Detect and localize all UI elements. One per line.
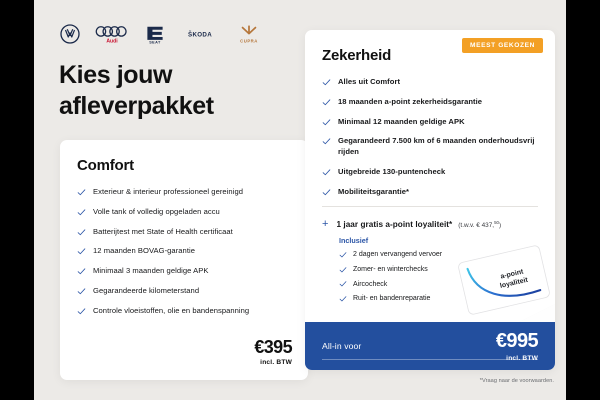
list-item: Gegarandeerd 7.500 km of 6 maanden onder… xyxy=(322,136,539,158)
section-divider xyxy=(322,206,538,207)
list-item: Mobiliteitsgarantie* xyxy=(322,187,539,198)
comfort-price-value: €395 xyxy=(254,338,292,356)
check-icon xyxy=(322,98,331,107)
loyalty-value: (t.w.v. € 437,50) xyxy=(458,220,501,229)
zekerheid-price-bar: All-in voor €995 incl. BTW xyxy=(305,322,555,370)
volkswagen-logo xyxy=(60,24,80,44)
feature-text: Minimaal 3 maanden geldige APK xyxy=(93,266,208,277)
inclusief-text: 2 dagen vervangend vervoer xyxy=(353,250,442,259)
allin-label: All-in voor xyxy=(322,341,361,351)
check-icon xyxy=(77,307,86,316)
page-title: Kies jouw afleverpakket xyxy=(59,60,319,121)
feature-text: Controle vloeistoffen, olie en bandenspa… xyxy=(93,306,249,317)
comfort-vat-label: incl. BTW xyxy=(254,359,292,366)
status-badge: MEEST GEKOZEN xyxy=(462,38,543,53)
feature-text: Volle tank of volledig opgeladen accu xyxy=(93,207,220,218)
list-item: Gegarandeerde kilometerstand xyxy=(77,286,292,297)
feature-text: Exterieur & interieur professioneel gere… xyxy=(93,187,243,198)
list-item: Uitgebreide 130-puntencheck xyxy=(322,167,539,178)
list-item: 18 maanden a-point zekerheidsgarantie xyxy=(322,97,539,108)
comfort-feature-list: Exterieur & interieur professioneel gere… xyxy=(60,187,308,316)
zekerheid-price-value: €995 xyxy=(496,330,538,352)
loyalty-highlight-row: + 1 jaar gratis a-point loyaliteit* (t.w… xyxy=(322,219,539,230)
check-icon xyxy=(322,137,331,146)
svg-text:ŠKODA: ŠKODA xyxy=(188,30,212,38)
inclusief-block: Inclusief 2 dagen vervangend vervoer Zom… xyxy=(339,236,539,303)
check-icon xyxy=(77,208,86,217)
feature-text: Mobiliteitsgarantie* xyxy=(338,187,409,198)
inclusief-title: Inclusief xyxy=(339,236,539,245)
price-underline xyxy=(322,359,538,360)
check-icon xyxy=(322,118,331,127)
comfort-card-title: Comfort xyxy=(77,157,308,174)
headline-line-1: Kies jouw xyxy=(59,60,319,91)
feature-text: Gegarandeerde kilometerstand xyxy=(93,286,199,297)
comfort-price-block: €395 incl. BTW xyxy=(254,338,292,366)
list-item: Minimaal 3 maanden geldige APK xyxy=(77,266,292,277)
seat-logo: SEAT xyxy=(144,24,166,44)
check-icon xyxy=(77,287,86,296)
audi-logo: Audi xyxy=(95,24,129,44)
footnote-text: *Vraag naar de voorwaarden. xyxy=(480,378,554,384)
svg-text:SEAT: SEAT xyxy=(149,40,161,44)
check-icon xyxy=(339,266,347,274)
list-item: Batterijtest met State of Health certifi… xyxy=(77,227,292,238)
skoda-logo: ŠKODA xyxy=(181,24,219,44)
check-icon xyxy=(77,188,86,197)
brand-logo-strip: Audi SEAT ŠKODA CUPRA xyxy=(60,24,264,44)
list-item: Alles uit Comfort xyxy=(322,77,539,88)
list-item: Minimaal 12 maanden geldige APK xyxy=(322,117,539,128)
feature-text: Minimaal 12 maanden geldige APK xyxy=(338,117,465,128)
feature-text: Batterijtest met State of Health certifi… xyxy=(93,227,233,238)
inclusief-text: Aircocheck xyxy=(353,280,387,289)
check-icon xyxy=(322,188,331,197)
check-icon xyxy=(322,78,331,87)
folded-corner-decoration xyxy=(515,304,555,322)
feature-text: Uitgebreide 130-puntencheck xyxy=(338,167,445,178)
svg-text:CUPRA: CUPRA xyxy=(240,39,258,44)
loyalty-value-suffix: ) xyxy=(499,222,501,229)
check-icon xyxy=(339,280,347,288)
list-item: 12 maanden BOVAG-garantie xyxy=(77,246,292,257)
inclusief-text: Zomer- en winterchecks xyxy=(353,265,428,274)
promo-canvas: Audi SEAT ŠKODA CUPRA xyxy=(34,0,566,400)
cupra-logo: CUPRA xyxy=(234,24,264,44)
list-item: Volle tank of volledig opgeladen accu xyxy=(77,207,292,218)
zekerheid-feature-list: Alles uit Comfort 18 maanden a-point zek… xyxy=(305,77,555,197)
check-icon xyxy=(339,251,347,259)
package-card-zekerheid[interactable]: MEEST GEKOZEN Zekerheid Alles uit Comfor… xyxy=(305,30,555,370)
zekerheid-price-block: €995 incl. BTW xyxy=(496,331,538,362)
feature-text: 18 maanden a-point zekerheidsgarantie xyxy=(338,97,482,108)
check-icon xyxy=(322,168,331,177)
loyalty-label: 1 jaar gratis a-point loyaliteit* xyxy=(336,220,452,229)
feature-text: Alles uit Comfort xyxy=(338,77,400,88)
check-icon xyxy=(77,267,86,276)
list-item: Controle vloeistoffen, olie en bandenspa… xyxy=(77,306,292,317)
check-icon xyxy=(77,247,86,256)
feature-text: Gegarandeerd 7.500 km of 6 maanden onder… xyxy=(338,136,539,158)
screenshot-stage: Audi SEAT ŠKODA CUPRA xyxy=(0,0,600,400)
plus-icon: + xyxy=(322,219,328,230)
check-icon xyxy=(339,295,347,303)
inclusief-text: Ruit- en bandenreparatie xyxy=(353,294,430,303)
check-icon xyxy=(77,228,86,237)
package-card-comfort[interactable]: Comfort Exterieur & interieur profession… xyxy=(60,140,308,380)
zekerheid-vat-label: incl. BTW xyxy=(496,355,538,362)
feature-text: 12 maanden BOVAG-garantie xyxy=(93,246,195,257)
svg-text:Audi: Audi xyxy=(106,39,118,45)
loyalty-value-prefix: (t.w.v. € 437, xyxy=(458,222,494,229)
list-item: Exterieur & interieur professioneel gere… xyxy=(77,187,292,198)
headline-line-2: afleverpakket xyxy=(59,91,319,122)
